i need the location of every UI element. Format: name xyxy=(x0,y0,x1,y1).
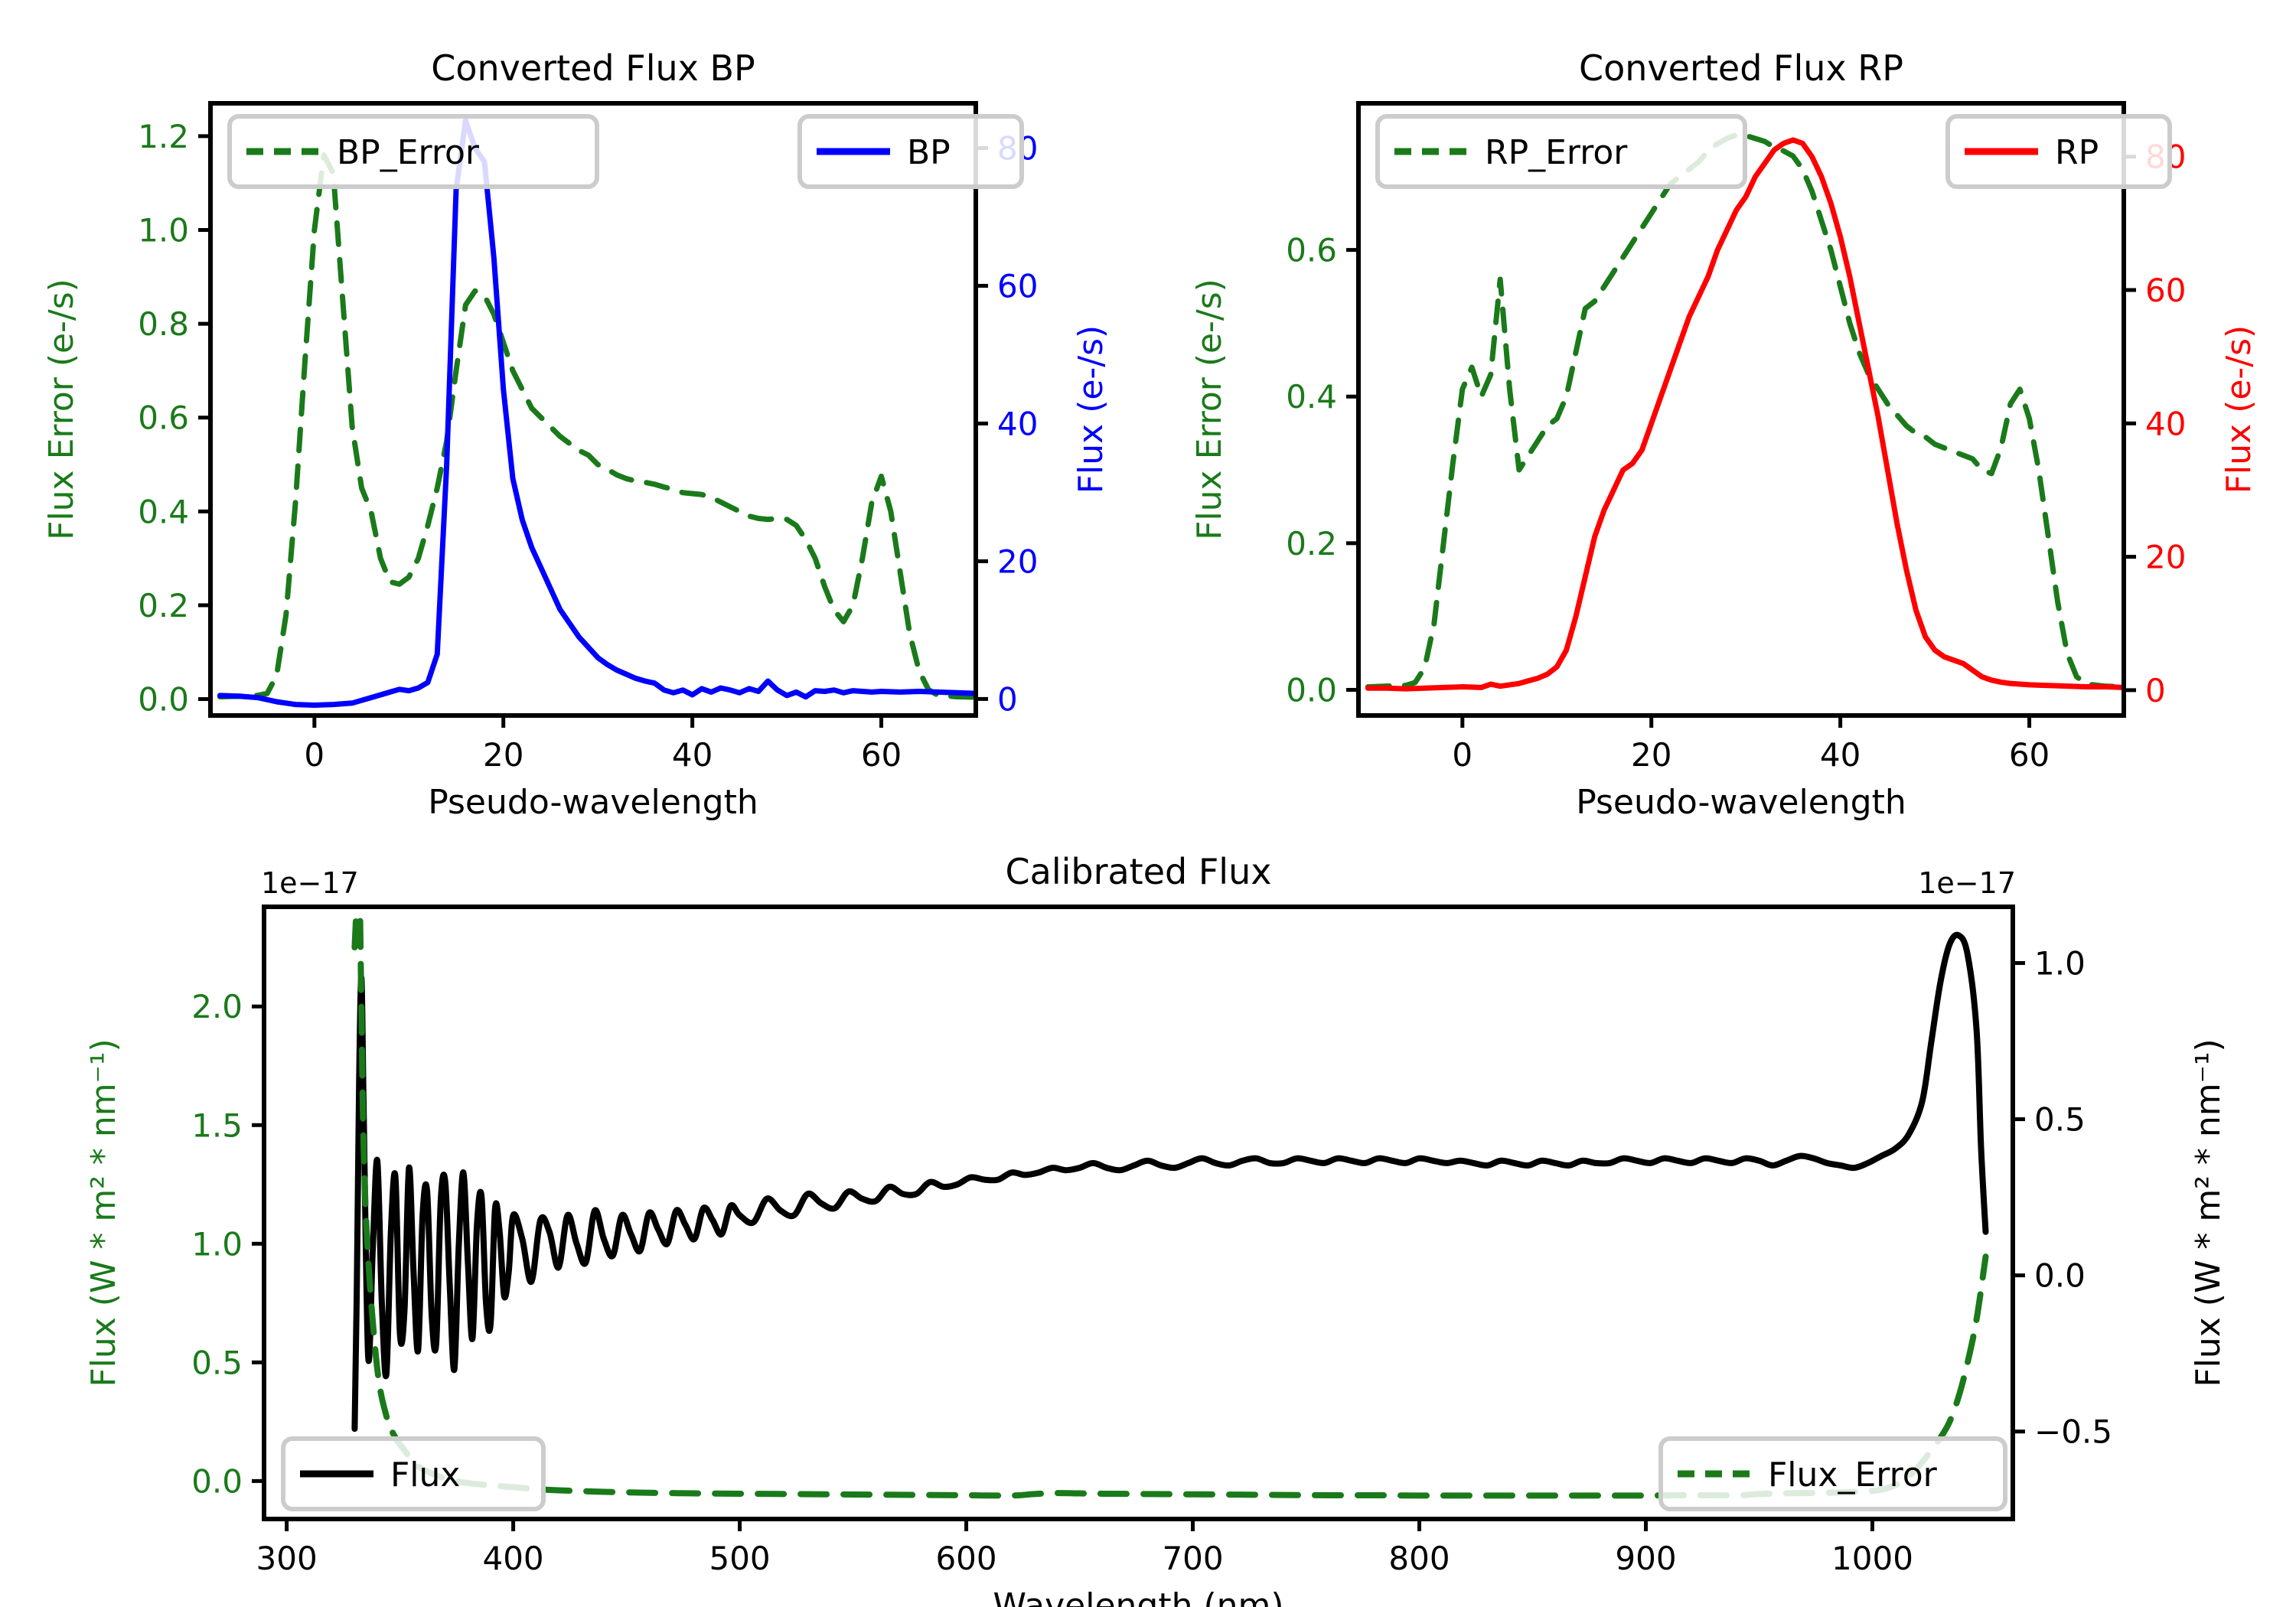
x-tick-label: 0 xyxy=(304,736,325,774)
y-tick-label-left: 0.6 xyxy=(138,399,189,437)
legend-label: RP_Error xyxy=(1485,133,1628,172)
y-tick-label-right: 60 xyxy=(997,267,1038,305)
legend-label: Flux xyxy=(390,1455,460,1495)
x-tick-label: 400 xyxy=(482,1540,543,1577)
x-tick-label: 500 xyxy=(709,1540,770,1577)
y-tick-label-right: 20 xyxy=(997,543,1038,580)
x-tick-label: 60 xyxy=(2009,736,2050,774)
panel-calibrated-flux: Calibrated Flux3004005006007008009001000… xyxy=(0,826,2296,1607)
x-tick-label: 800 xyxy=(1388,1540,1450,1577)
panel-title: Converted Flux BP xyxy=(431,47,755,89)
y-tick-label-left: 0.0 xyxy=(191,1462,243,1500)
bp-chart-svg: Converted Flux BP0204060Pseudo-wavelengt… xyxy=(0,46,1148,834)
x-tick-label: 700 xyxy=(1162,1540,1223,1577)
y-tick-label-left: 1.0 xyxy=(138,212,189,249)
y-tick-label-right: 1.0 xyxy=(2034,944,2086,982)
y-tick-label-right: 0.0 xyxy=(2034,1257,2086,1295)
legend-label: BP xyxy=(907,133,951,172)
y-axis-label-right: Flux (e-/s) xyxy=(2219,325,2258,494)
y-tick-label-left: 0.0 xyxy=(138,681,189,719)
legend-rp[interactable]: RP xyxy=(1948,116,2170,187)
y-axis-label-left: Flux (W * m² * nm⁻¹) xyxy=(84,1038,123,1387)
y-tick-label-right: 20 xyxy=(2145,539,2186,576)
y-tick-label-right: 60 xyxy=(2145,272,2186,309)
legend-rp-error[interactable]: RP_Error xyxy=(1378,116,1745,187)
legend-flux[interactable]: Flux xyxy=(283,1439,543,1509)
legend-flux-error[interactable]: Flux_Error xyxy=(1661,1439,2005,1509)
series-flux xyxy=(354,935,1985,1429)
x-tick-label: 600 xyxy=(935,1540,996,1577)
x-tick-label: 60 xyxy=(861,736,902,774)
y-tick-label-left: 1.0 xyxy=(191,1225,243,1263)
x-tick-label: 300 xyxy=(256,1540,318,1577)
y-tick-label-right: 0 xyxy=(2145,672,2166,709)
series-rp xyxy=(1368,140,2124,689)
x-tick-label: 20 xyxy=(483,736,523,774)
x-axis-label: Pseudo-wavelength xyxy=(428,783,758,822)
series-rp-error xyxy=(1368,135,2124,686)
panel-converted-flux-bp: Converted Flux BP0204060Pseudo-wavelengt… xyxy=(0,46,1148,834)
panel-title: Converted Flux RP xyxy=(1579,47,1903,89)
x-tick-label: 40 xyxy=(672,736,713,774)
y-tick-label-left: 2.0 xyxy=(191,988,243,1025)
rp-chart-svg: Converted Flux RP0204060Pseudo-wavelengt… xyxy=(1148,46,2296,834)
series-group xyxy=(354,870,1985,1496)
y-tick-label-left: 0.4 xyxy=(1286,378,1337,416)
y-axis-label-left: Flux Error (e-/s) xyxy=(1190,279,1229,540)
y-tick-label-right: 0.5 xyxy=(2034,1101,2086,1139)
y-tick-label-right: 0 xyxy=(997,680,1018,718)
y-axis-label-left: Flux Error (e-/s) xyxy=(42,279,81,540)
legend-bp[interactable]: BP xyxy=(800,116,1022,187)
figure-canvas: Converted Flux BP0204060Pseudo-wavelengt… xyxy=(0,0,2296,1607)
x-tick-label: 0 xyxy=(1452,736,1473,774)
series-group xyxy=(220,121,976,706)
y-axis-label-right: Flux (e-/s) xyxy=(1071,325,1110,494)
y-tick-label-left: 0.8 xyxy=(138,305,189,343)
legend-bp-error[interactable]: BP_Error xyxy=(230,116,597,187)
series-bp-error xyxy=(220,155,976,697)
x-axis-label: Wavelength (nm) xyxy=(993,1586,1283,1607)
x-tick-label: 900 xyxy=(1615,1540,1676,1577)
y-tick-label-left: 0.2 xyxy=(1286,525,1337,562)
y-tick-label-left: 0.0 xyxy=(1286,671,1337,709)
axes-frame xyxy=(210,103,976,715)
panel-converted-flux-rp: Converted Flux RP0204060Pseudo-wavelengt… xyxy=(1148,46,2296,834)
x-tick-label: 1000 xyxy=(1831,1540,1913,1577)
x-tick-label: 40 xyxy=(1820,736,1861,774)
y-tick-label-left: 0.5 xyxy=(191,1344,243,1381)
y-tick-label-left: 0.4 xyxy=(138,493,189,530)
y-tick-label-right: −0.5 xyxy=(2034,1413,2112,1451)
legend-label: RP xyxy=(2055,133,2099,172)
y-tick-label-left: 0.6 xyxy=(1286,232,1337,269)
legend-label: Flux_Error xyxy=(1768,1455,1938,1495)
y-tick-label-left: 1.5 xyxy=(191,1107,243,1144)
offset-text-right: 1e−17 xyxy=(1918,866,2016,900)
series-group xyxy=(1368,135,2124,689)
y-axis-label-right: Flux (W * m² * nm⁻¹) xyxy=(2189,1038,2228,1387)
panel-title: Calibrated Flux xyxy=(1006,851,1272,892)
y-tick-label-left: 1.2 xyxy=(138,118,189,155)
x-tick-label: 20 xyxy=(1631,736,1671,774)
series-flux-error xyxy=(354,870,1985,1496)
y-tick-label-right: 40 xyxy=(997,405,1038,442)
x-axis-label: Pseudo-wavelength xyxy=(1576,783,1906,822)
y-tick-label-left: 0.2 xyxy=(138,587,189,624)
calibrated-chart-svg: Calibrated Flux3004005006007008009001000… xyxy=(0,826,2296,1607)
y-tick-label-right: 40 xyxy=(2145,405,2186,442)
offset-text-left: 1e−17 xyxy=(261,866,359,900)
axes-frame xyxy=(264,907,2013,1519)
axes-frame xyxy=(1358,103,2124,715)
legend-label: BP_Error xyxy=(337,133,480,172)
